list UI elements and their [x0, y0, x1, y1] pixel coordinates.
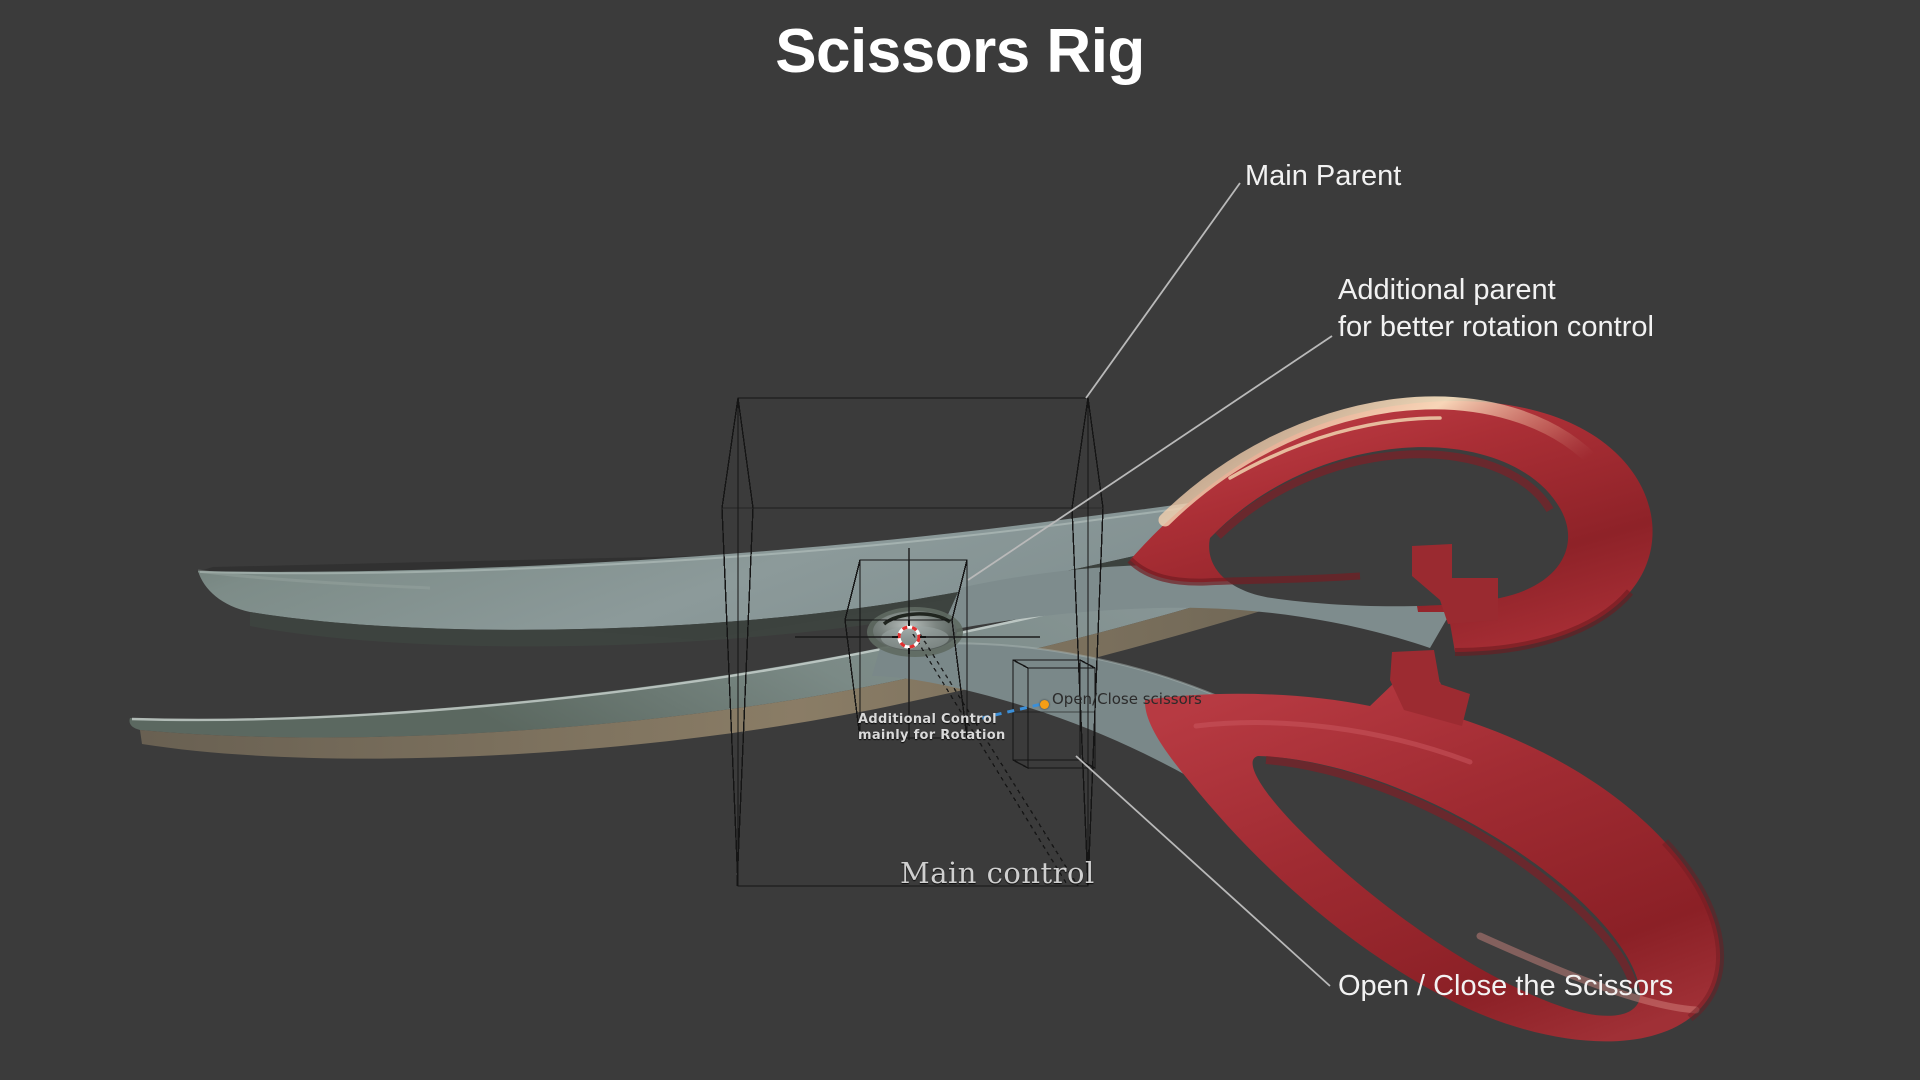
- viewport-render: [0, 0, 1920, 1080]
- annotation-additional-parent: Additional parent for better rotation co…: [1338, 272, 1654, 346]
- additional-control-label: Additional Control mainly for Rotation: [858, 712, 1006, 745]
- annotation-open-close: Open / Close the Scissors: [1338, 968, 1673, 1005]
- open-close-scissors-label: Open/Close scissors: [1052, 690, 1202, 709]
- 3d-cursor-icon: [892, 620, 926, 654]
- page-title: Scissors Rig: [0, 16, 1920, 87]
- open-close-empty-dot[interactable]: [1040, 700, 1049, 709]
- scissors-rig-illustration: Additional Control mainly for Rotation O…: [0, 0, 1920, 1080]
- annotation-main-parent: Main Parent: [1245, 158, 1401, 195]
- main-control-label: Main control: [900, 855, 1095, 891]
